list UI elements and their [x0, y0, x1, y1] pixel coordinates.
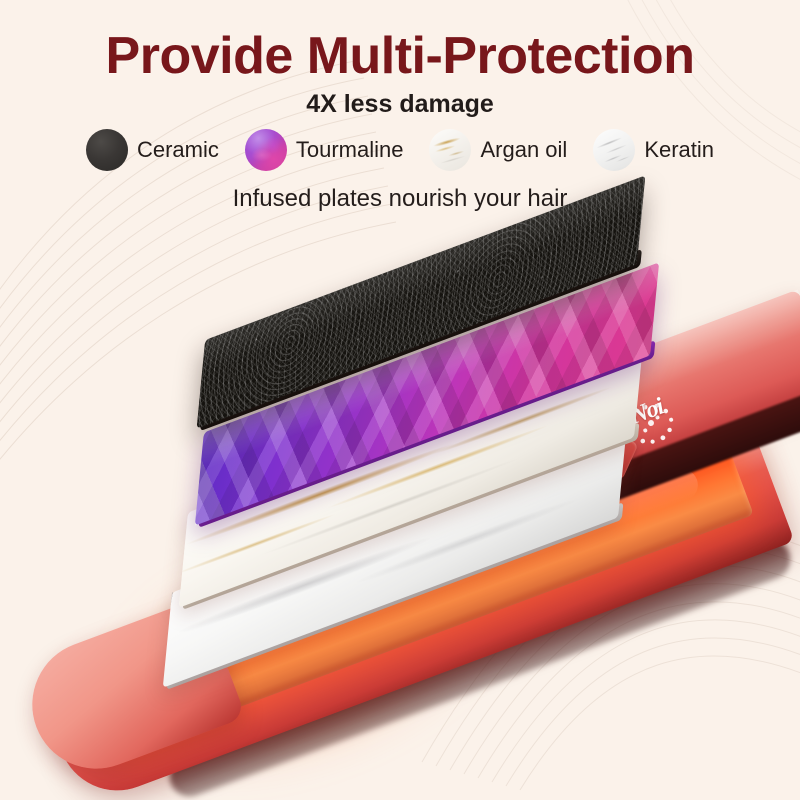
product-feature-poster: Provide Multi-Protection 4X less damage … — [0, 0, 800, 800]
product-illustration: Noi — [0, 0, 800, 800]
